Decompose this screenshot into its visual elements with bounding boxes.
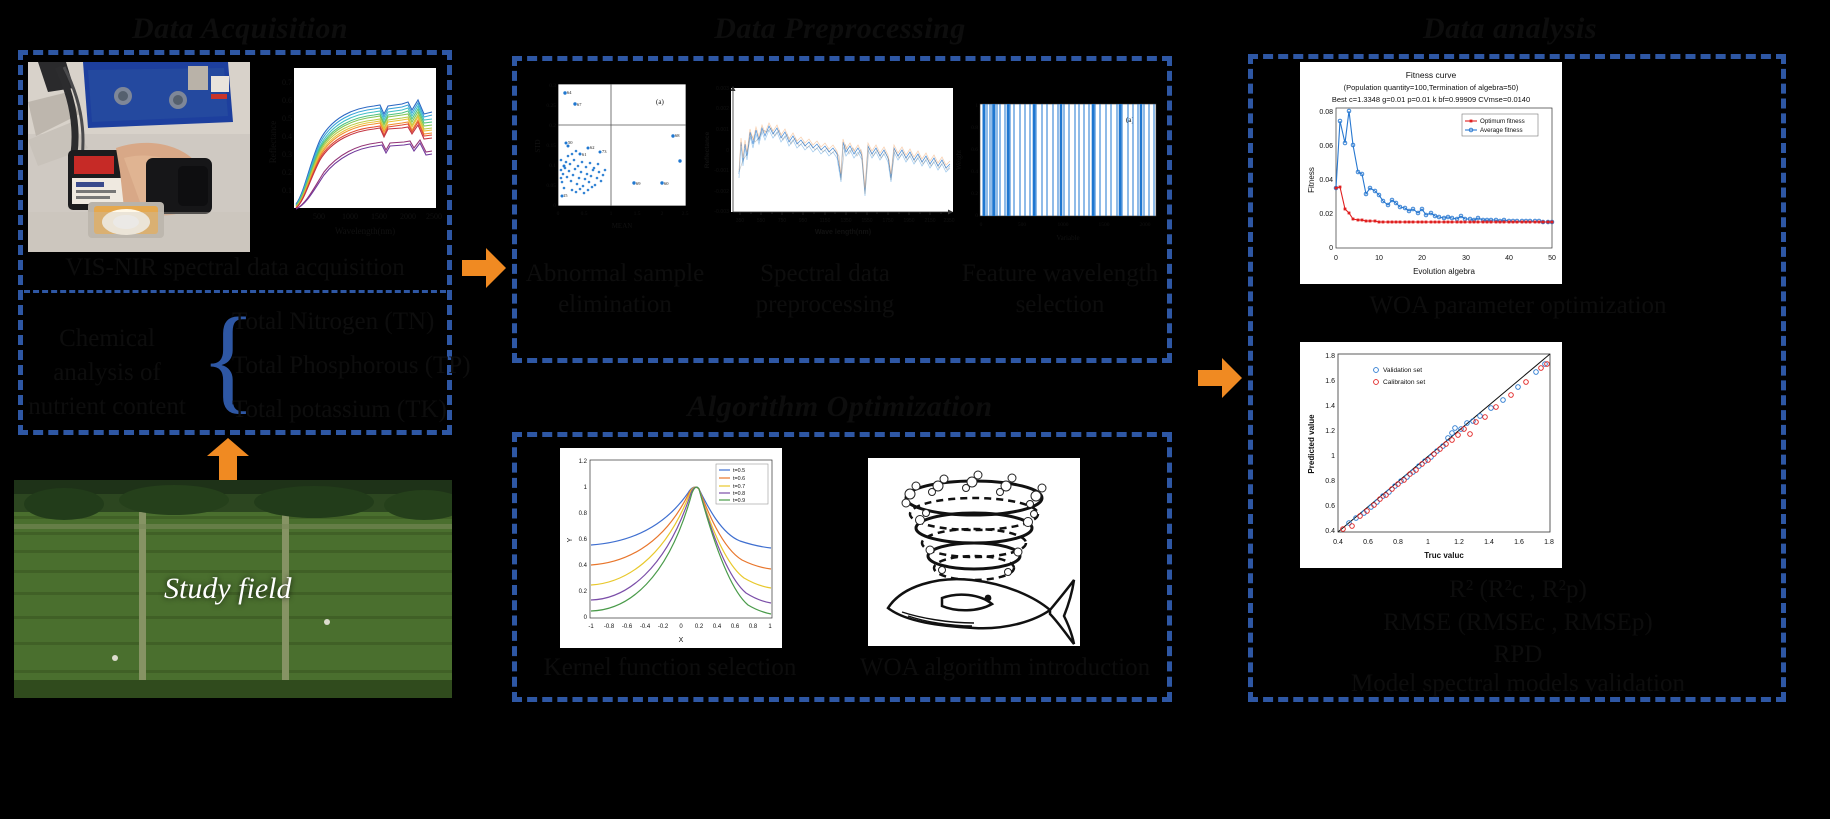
svg-text:t=0.6: t=0.6	[733, 476, 745, 482]
svg-text:0.8: 0.8	[971, 125, 978, 131]
svg-text:0.5: 0.5	[581, 211, 588, 217]
svg-text:2000: 2000	[1140, 222, 1151, 228]
svg-text:0.5: 0.5	[282, 114, 292, 123]
svg-text:40: 40	[1505, 255, 1513, 262]
svg-text:Weight: Weight	[955, 150, 963, 170]
svg-text:1: 1	[610, 211, 613, 217]
svg-text:950: 950	[799, 218, 808, 224]
svg-text:60: 60	[664, 181, 669, 186]
plot-preprocessed-spectra: 0.0030.0020.001 0-0.001-0.002 -0.003 350…	[695, 82, 957, 240]
svg-text:550: 550	[757, 218, 766, 224]
svg-text:Optimum fitness: Optimum fitness	[1480, 118, 1525, 125]
arrow-acquisition-to-preprocessing	[462, 248, 506, 288]
svg-text:50: 50	[568, 140, 573, 145]
svg-text:Calibraiton set: Calibraiton set	[1383, 379, 1425, 386]
svg-text:0.8: 0.8	[1393, 539, 1403, 546]
svg-text:0.2: 0.2	[282, 168, 292, 177]
svg-text:10: 10	[1375, 255, 1383, 262]
svg-text:2.5: 2.5	[682, 211, 689, 217]
svg-text:67: 67	[577, 102, 582, 107]
svg-text:Fitness curve: Fitness curve	[1406, 70, 1457, 80]
svg-text:0.06: 0.06	[1319, 143, 1333, 150]
svg-text:0: 0	[975, 213, 978, 219]
svg-text:Reflectance: Reflectance	[704, 131, 711, 168]
plot-fitness-curve: Fitness curve (Population quantity=100,T…	[1300, 62, 1562, 284]
svg-text:1500: 1500	[1099, 222, 1110, 228]
svg-text:0: 0	[1329, 245, 1333, 252]
svg-text:Average fitness: Average fitness	[1480, 127, 1523, 134]
arrow-preprocessing-to-analysis	[1198, 358, 1242, 398]
svg-text:0.2: 0.2	[549, 123, 556, 129]
svg-text:1550: 1550	[861, 218, 872, 224]
svg-text:1000: 1000	[342, 212, 358, 221]
svg-text:350: 350	[736, 218, 745, 224]
nutrient-total-nitrogen: Total Nitrogen (TN)	[232, 308, 434, 336]
plot-validation-scatter: 1.81.61.4 1.210.8 0.60.4 0.40.60.8 11.21…	[1300, 342, 1562, 568]
svg-text:0.2: 0.2	[579, 589, 588, 595]
caption-model-validation: Model spectral models validation	[1258, 668, 1778, 699]
svg-text:0: 0	[726, 148, 729, 154]
caption-spectral-acquisition: VIS-NIR spectral data acquisition	[28, 252, 442, 283]
svg-text:0: 0	[557, 211, 560, 217]
svg-text:t=0.7: t=0.7	[733, 484, 745, 490]
svg-text:0.8: 0.8	[749, 624, 758, 630]
svg-text:1.8: 1.8	[1325, 353, 1335, 360]
svg-text:0.4: 0.4	[971, 169, 978, 175]
svg-text:(Population quantity=100,Termi: (Population quantity=100,Termination of …	[1344, 83, 1519, 92]
svg-text:Fitness: Fitness	[1307, 167, 1316, 193]
svg-text:1000: 1000	[1058, 222, 1069, 228]
svg-text:0.4: 0.4	[579, 563, 588, 569]
svg-text:0: 0	[1334, 255, 1338, 262]
svg-text:0.3: 0.3	[549, 83, 556, 89]
plot-feature-wavelength: 10.80.6 0.40.20 05001000 15002000 Variab…	[950, 98, 1162, 248]
svg-text:1: 1	[975, 103, 978, 109]
svg-text:61: 61	[582, 152, 587, 157]
arrow-field-to-acquisition	[205, 438, 251, 480]
svg-text:1.2: 1.2	[579, 459, 588, 465]
result-r2: R² (R²c , R²p)	[1258, 574, 1778, 607]
svg-text:0.3: 0.3	[282, 150, 292, 159]
svg-text:1.6: 1.6	[1514, 539, 1524, 546]
caption-kernel-function: Kernel function selection	[520, 652, 820, 683]
svg-text:1.4: 1.4	[1325, 403, 1335, 410]
caption-chemical-analysis: Chemical analysis of nutrient content	[22, 322, 192, 423]
plot-kernel-function: 1.210.8 0.60.40.2 0 -1-0.8-0.6 -0.4-0.20…	[560, 448, 782, 648]
svg-text:2000: 2000	[400, 212, 416, 221]
svg-text:1.8: 1.8	[1544, 539, 1554, 546]
svg-text:1.5: 1.5	[634, 211, 641, 217]
chem-line-3: nutrient content	[22, 390, 192, 424]
stage-title-algorithm: Algorithm Optimization	[610, 390, 1070, 424]
svg-text:0: 0	[980, 222, 983, 228]
svg-text:15: 15	[563, 193, 568, 198]
svg-text:1950: 1950	[903, 218, 914, 224]
svg-text:0.05: 0.05	[546, 183, 556, 189]
svg-text:(a): (a)	[656, 98, 664, 106]
svg-text:750: 750	[778, 218, 787, 224]
caption-feature-wavelength: Feature wavelength selection	[955, 258, 1165, 321]
svg-text:STD: STD	[534, 139, 542, 152]
svg-text:Predicted value: Predicted value	[1307, 414, 1316, 474]
svg-text:0.001: 0.001	[716, 127, 729, 133]
svg-text:0.8: 0.8	[1325, 478, 1335, 485]
caption-spectral-preprocessing: Spectral data preprocessing	[730, 258, 920, 321]
svg-text:MEAN: MEAN	[612, 222, 633, 230]
svg-text:0.4: 0.4	[713, 624, 722, 630]
svg-text:Best c=1.3348 g=0.01 p=0.01 k: Best c=1.3348 g=0.01 p=0.01 k bf=0.99909…	[1332, 95, 1530, 104]
svg-text:62: 62	[590, 145, 595, 150]
svg-text:Validation set: Validation set	[1383, 367, 1422, 374]
svg-text:Wave length(nm): Wave length(nm)	[815, 229, 871, 236]
svg-text:2500: 2500	[426, 212, 442, 221]
svg-text:1.4: 1.4	[1484, 539, 1494, 546]
caption-woa-parameter-optimization: WOA parameter optimization	[1258, 290, 1778, 321]
svg-text:64: 64	[567, 90, 572, 95]
svg-text:0.003: 0.003	[716, 86, 729, 92]
study-field-label: Study field	[164, 572, 291, 606]
spectral-curves-svg: 0.70.60.5 0.40.30.2 0.1 50010001500 2000…	[262, 62, 442, 244]
abnormal-line-2: elimination	[520, 289, 710, 320]
svg-text:Wavelength(nm): Wavelength(nm)	[335, 226, 395, 236]
svg-text:0: 0	[553, 203, 556, 209]
caption-woa-introduction: WOA algorithm introduction	[840, 652, 1170, 683]
svg-text:-0.002: -0.002	[714, 189, 729, 195]
svg-text:t=0.8: t=0.8	[733, 491, 745, 497]
svg-text:-0.6: -0.6	[622, 624, 633, 630]
illustration-woa-whale	[868, 458, 1080, 646]
svg-text:1350: 1350	[840, 218, 851, 224]
svg-text:0.6: 0.6	[731, 624, 740, 630]
svg-text:-0.001: -0.001	[714, 168, 729, 174]
svg-text:0.7: 0.7	[282, 78, 292, 87]
plot-abnormal-sample: 0.30.250.2 0.150.10.05 0 00.51 1.522.5 M…	[528, 78, 696, 238]
svg-text:0.4: 0.4	[1325, 528, 1335, 535]
stage-title-preprocessing: Data Preprocessing	[610, 12, 1070, 46]
svg-text:20: 20	[1418, 255, 1426, 262]
svg-text:Reflectance: Reflectance	[268, 121, 278, 163]
svg-text:1500: 1500	[371, 212, 387, 221]
analysis-result-metrics: R² (R²c , R²p) RMSE (RMSEc , RMSEp) RPD	[1258, 574, 1778, 672]
caption-abnormal-sample: Abnormal sample elimination	[520, 258, 710, 321]
svg-text:-0.003: -0.003	[714, 209, 729, 215]
svg-text:1: 1	[1426, 539, 1430, 546]
svg-text:0.002: 0.002	[716, 106, 729, 112]
svg-text:0.6: 0.6	[971, 147, 978, 153]
feature-line-2: selection	[955, 289, 1165, 320]
svg-text:1750: 1750	[882, 218, 893, 224]
svg-text:0.8: 0.8	[579, 511, 588, 517]
svg-text:0.4: 0.4	[1333, 539, 1343, 546]
stage-title-acquisition: Data Acquisition	[20, 12, 460, 46]
svg-text:X: X	[679, 637, 684, 644]
result-rpd: RPD	[1258, 639, 1778, 672]
svg-text:0.6: 0.6	[1363, 539, 1373, 546]
svg-text:30: 30	[1462, 255, 1470, 262]
feature-line-1: Feature wavelength	[955, 258, 1165, 289]
svg-text:1: 1	[1331, 453, 1335, 460]
svg-text:0.4: 0.4	[282, 132, 292, 141]
svg-text:0.1: 0.1	[549, 163, 556, 169]
svg-text:73: 73	[602, 149, 607, 154]
svg-text:0.08: 0.08	[1319, 109, 1333, 116]
svg-text:Truc valuc: Truc valuc	[1424, 551, 1464, 560]
svg-text:-0.8: -0.8	[604, 624, 615, 630]
svg-text:t=0.5: t=0.5	[733, 468, 745, 474]
svg-text:1150: 1150	[820, 218, 831, 224]
svg-text:0.1: 0.1	[282, 186, 292, 195]
preproc-line-1: Spectral data	[730, 258, 920, 289]
svg-text:0.6: 0.6	[1325, 503, 1335, 510]
svg-text:Y: Y	[567, 537, 574, 542]
svg-text:0.04: 0.04	[1319, 177, 1333, 184]
svg-text:1.2: 1.2	[1454, 539, 1464, 546]
nutrient-total-potassium: Total potassium (TK)	[232, 396, 447, 424]
chem-line-1: Chemical	[22, 322, 192, 356]
stage-title-analysis: Data analysis	[1310, 12, 1710, 46]
svg-text:1.2: 1.2	[1325, 428, 1335, 435]
svg-text:0.2: 0.2	[971, 191, 978, 197]
svg-text:-0.2: -0.2	[658, 624, 669, 630]
svg-text:68: 68	[675, 133, 680, 138]
svg-text:0.15: 0.15	[546, 143, 556, 149]
svg-text:0.6: 0.6	[579, 537, 588, 543]
svg-text:-0.4: -0.4	[640, 624, 651, 630]
spectrometer-photo	[28, 62, 250, 252]
chem-line-2: analysis of	[22, 356, 192, 390]
study-field-photo: Study field	[14, 480, 452, 698]
svg-text:0.02: 0.02	[1319, 211, 1333, 218]
svg-text:-1: -1	[588, 624, 594, 630]
nutrient-total-phosphorous: Total Phosphorous (TP)	[232, 352, 471, 380]
svg-text:Variable: Variable	[1056, 234, 1079, 242]
preproc-line-2: preprocessing	[730, 289, 920, 320]
svg-text:50: 50	[1548, 255, 1556, 262]
svg-text:Evolution algebra: Evolution algebra	[1413, 267, 1475, 276]
svg-text:2: 2	[661, 211, 664, 217]
svg-text:1.6: 1.6	[1325, 378, 1335, 385]
svg-text:500: 500	[313, 212, 325, 221]
abnormal-line-1: Abnormal sample	[520, 258, 710, 289]
svg-text:0.25: 0.25	[546, 103, 556, 109]
svg-text:0.6: 0.6	[282, 96, 292, 105]
svg-text:2150: 2150	[924, 218, 935, 224]
plot-spectral-curves: 0.70.60.5 0.40.30.2 0.1 50010001500 2000…	[262, 62, 442, 244]
svg-text:69: 69	[636, 181, 641, 186]
svg-text:t=0.9: t=0.9	[733, 498, 745, 504]
result-rmse: RMSE (RMSEc , RMSEp)	[1258, 607, 1778, 640]
svg-text:0.2: 0.2	[695, 624, 704, 630]
svg-text:500: 500	[1018, 222, 1027, 228]
